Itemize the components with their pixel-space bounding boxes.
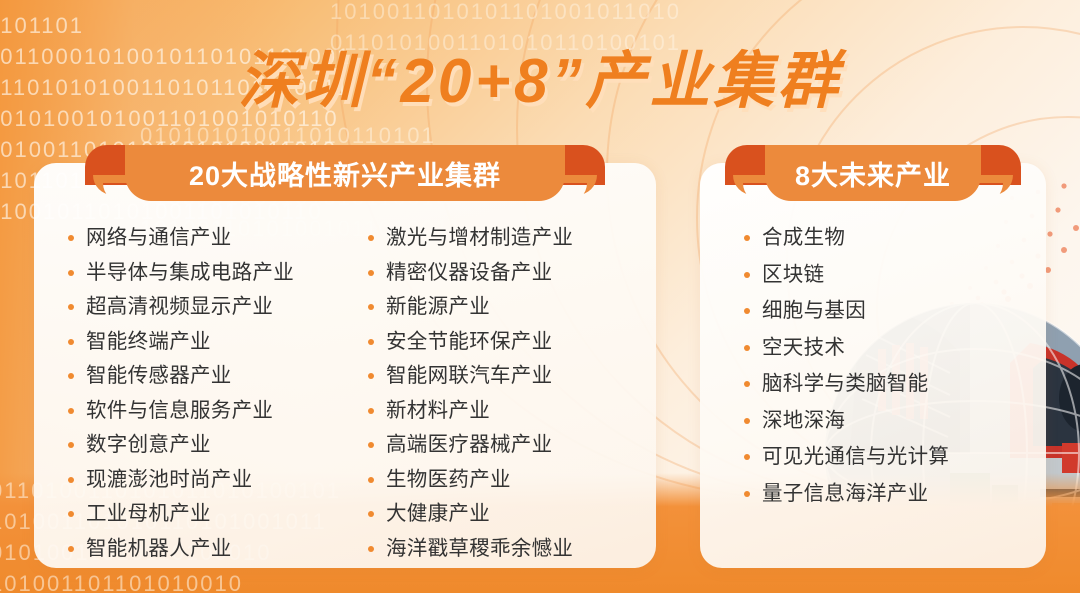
list-item: 生物医药产业: [366, 464, 646, 496]
list-item: 工业母机产业: [66, 498, 366, 530]
list-item: 软件与信息服务产业: [66, 395, 366, 427]
list-item: 智能终端产业: [66, 326, 366, 358]
list-item: 新材料产业: [366, 395, 646, 427]
list-item: 精密仪器设备产业: [366, 257, 646, 289]
ribbon-fold-left: [103, 183, 147, 203]
ribbon-fold-right: [543, 183, 587, 203]
poster-title: 深圳“20+8”产业集群: [16, 30, 1064, 120]
list-item: 智能网联汽车产业: [366, 360, 646, 392]
strategic-industries-column-b: 激光与增材制造产业 精密仪器设备产业 新能源产业 安全节能环保产业 智能网联汽车…: [366, 222, 646, 567]
list-item: 细胞与基因: [742, 295, 949, 327]
list-item: 超高清视频显示产业: [66, 291, 366, 323]
list-item: 区块链: [742, 259, 949, 291]
future-industries-column: 合成生物 区块链 细胞与基因 空天技术 脑科学与类脑智能 深地深海 可见光通信与…: [742, 222, 949, 514]
ribbon-fold-left: [743, 183, 787, 203]
future-industries-list: 合成生物 区块链 细胞与基因 空天技术 脑科学与类脑智能 深地深海 可见光通信与…: [742, 222, 1042, 514]
list-item: 合成生物: [742, 222, 949, 254]
list-item: 量子信息海洋产业: [742, 478, 949, 510]
list-item: 空天技术: [742, 332, 949, 364]
banner-label-strategic: 20大战略性新兴产业集群: [189, 154, 501, 193]
list-item: 脑科学与类脑智能: [742, 368, 949, 400]
list-item: 安全节能环保产业: [366, 326, 646, 358]
list-item: 现漉澎池时尚产业: [66, 464, 366, 496]
list-item: 数字创意产业: [66, 429, 366, 461]
strategic-industries-list: 网络与通信产业 半导体与集成电路产业 超高清视频显示产业 智能终端产业 智能传感…: [66, 222, 646, 567]
list-item: 高端医疗器械产业: [366, 429, 646, 461]
list-item: 智能机器人产业: [66, 533, 366, 565]
list-item: 智能传感器产业: [66, 360, 366, 392]
list-item: 半导体与集成电路产业: [66, 257, 366, 289]
list-item: 网络与通信产业: [66, 222, 366, 254]
list-item: 深地深海: [742, 405, 949, 437]
list-item: 海洋戳草稷乖余憾业: [366, 533, 646, 565]
ribbon-fold-right: [959, 183, 1003, 203]
list-item: 新能源产业: [366, 291, 646, 323]
list-item: 可见光通信与光计算: [742, 441, 949, 473]
banner-label-future: 8大未来产业: [795, 154, 951, 193]
banner-future-industries: 8大未来产业: [725, 145, 1021, 201]
banner-strategic-industries: 20大战略性新兴产业集群: [85, 145, 605, 201]
list-item: 激光与增材制造产业: [366, 222, 646, 254]
strategic-industries-column-a: 网络与通信产业 半导体与集成电路产业 超高清视频显示产业 智能终端产业 智能传感…: [66, 222, 366, 567]
infographic-poster: 0101101 10110001010010110101101001 01101…: [0, 0, 1080, 593]
list-item: 大健康产业: [366, 498, 646, 530]
